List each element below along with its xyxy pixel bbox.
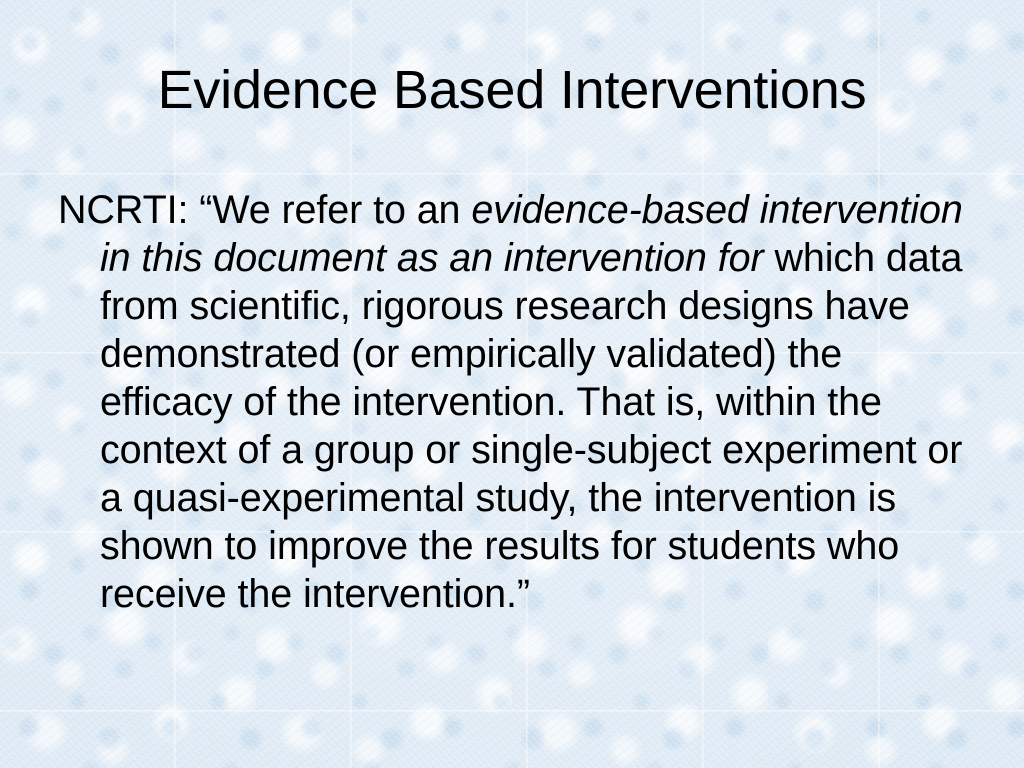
slide-canvas: Evidence Based Interventions NCRTI: “We … [0,0,1024,768]
quote-tail-text: which data from scientific, rigorous res… [100,236,962,616]
slide-title: Evidence Based Interventions [0,58,1024,122]
slide-content: Evidence Based Interventions NCRTI: “We … [0,0,1024,768]
slide-body-text: NCRTI: “We refer to an evidence-based in… [58,186,978,618]
quote-lead-text: NCRTI: “We refer to an [58,188,471,232]
quote-paragraph: NCRTI: “We refer to an evidence-based in… [58,186,978,618]
